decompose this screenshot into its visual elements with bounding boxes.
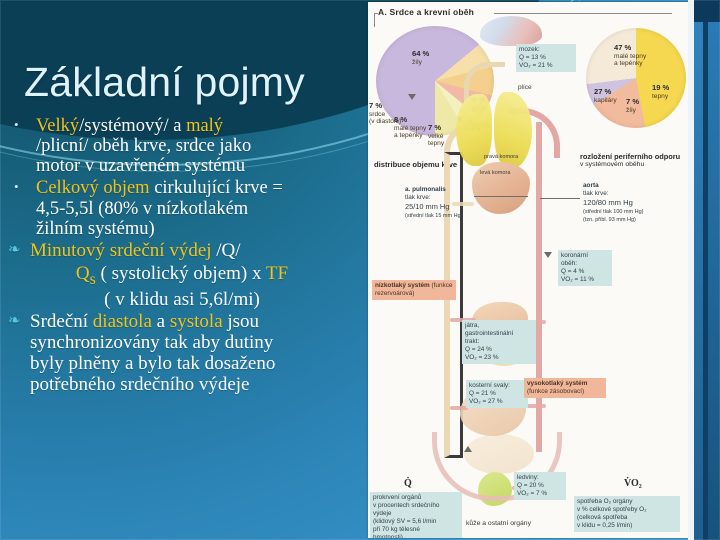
legend-line: výdeje [373, 510, 391, 517]
list-item: ❧ Minutový srdeční výdej /Q/ [6, 241, 368, 262]
list-item: ❧ Srdeční diastola a systola jsou synchr… [6, 312, 368, 395]
callout-organ: trakt: [465, 338, 479, 345]
callout-vo2: VO₂ = 7 % [517, 490, 547, 497]
figure-rule [494, 13, 672, 14]
callout-vo2: VO₂ = 27 % [469, 398, 503, 405]
pie-slice-label: 7 %srdce(v diastole) [369, 102, 401, 126]
bullet-line: potřebného srdečního výdeje [30, 375, 368, 396]
callout-value: 120/80 mm Hg [583, 198, 633, 207]
bullet-line: Srdeční diastola a systola jsou [30, 312, 368, 333]
pie-slice-label: 47 %malé tepnya tepénky [614, 44, 646, 68]
bullet-line: Velký/systémový/ a malý [36, 116, 368, 136]
list-item: Qs ( systolický objem) x TF [6, 264, 368, 288]
theme-stripe-blue-light [694, 0, 703, 540]
highlight-text: Qs [76, 263, 96, 284]
pie-slice-label: 7 %velkétepny [428, 124, 444, 148]
bullet-line: synchronizovány tak aby dutiny [30, 333, 368, 354]
list-item: • Celkový objem cirkulující krve = 4,5-5… [6, 178, 368, 238]
presentation-slide: Základní pojmy • Velký/systémový/ a malý… [0, 0, 720, 540]
pie-slice-label: 27 %kapiláry [594, 88, 617, 104]
legend-line: při 70 kg tělesné [373, 526, 420, 533]
figure-heading: A. Srdce a krevní oběh [378, 7, 474, 17]
label-right-ventricle: pravá komora [484, 154, 518, 160]
callout-note: (střední tlak 15 mm Hg) [405, 213, 462, 219]
leader-line [474, 196, 528, 197]
page-title: Základní pojmy [24, 62, 354, 103]
legend-line: (celková spotřeba [577, 514, 627, 521]
callout-coronary: koronární oběh: Q = 4 % VO₂ = 11 % [558, 250, 612, 286]
highlight-text: systola [170, 311, 223, 332]
bullet-line: Celkový objem cirkulující krve = [36, 178, 368, 198]
pie-slice-label: 7 %žíly [626, 98, 639, 114]
bullet-line: Minutový srdeční výdej /Q/ [30, 241, 368, 262]
theme-stripe-top-cap [694, 0, 720, 22]
system-title: vysokotlaký systém [527, 380, 587, 387]
legend-symbol-vo2: V̇O₂ [624, 478, 642, 489]
system-subtitle: (funkce zásobovací) [527, 388, 584, 395]
callout-vo2: VO₂ = 11 % [561, 276, 594, 283]
figure-image-srdce-a-krevni-obeh: A. Srdce a krevní oběh 64 %žíly 9 %plíce… [368, 2, 688, 538]
callout-q: Q = 21 % [469, 390, 496, 397]
caption-line: v systémovém oběhu [580, 161, 688, 168]
slide-text-column: Základní pojmy • Velký/systémový/ a malý… [0, 0, 368, 540]
vessel-branch [526, 404, 546, 408]
callout-kidneys: ledviny: Q = 20 % VO₂ = 7 % [514, 472, 566, 500]
bullet-line: motor v uzavřeném systému [36, 156, 368, 176]
pie-slice-label: 19 %tepny [652, 84, 669, 100]
callout-organ: gastrointestinální [465, 330, 513, 337]
legend-line: v klidu = 0,25 l/min) [577, 522, 632, 529]
label-lungs: plíce [518, 84, 532, 91]
label-skin-other-organs: kůže a ostatní orgány [466, 520, 531, 527]
bullet-line: žilním systému) [36, 219, 368, 239]
legend-line: prokrvení orgánů [373, 494, 421, 501]
pie-slice-label: 64 %žíly [412, 50, 429, 66]
callout-note: (tzn. přibl. 93 mm Hg) [583, 217, 636, 223]
label-left-ventricle: levá komora [480, 170, 510, 176]
ornament-bullet-icon: ❧ [8, 240, 21, 258]
callout-vo2: VO₂ = 21 % [519, 62, 553, 69]
callout-q: Q = 24 % [465, 346, 492, 353]
list-item: ( v klidu asi 5,6l/mi) [6, 290, 368, 311]
callout-note: (střední tlak 100 mm Hg) [583, 209, 644, 215]
callout-organ: koronární [561, 252, 588, 259]
system-title: nízkotlaký systém [375, 282, 430, 289]
legend-vo2-description: spotřeba O₂ orgány v % celkové spotřeby … [574, 496, 680, 532]
bullet-line: /plicní/ oběh krve, srdce jako [36, 136, 368, 156]
pie-chart-caption: rozložení periferního odporu v systémové… [580, 152, 688, 168]
callout-high-pressure-system: vysokotlaký systém (funkce zásobovací) [524, 378, 606, 398]
highlight-text: Minutový srdeční výdej [30, 240, 212, 261]
legend-line: hmotnosti) [373, 534, 403, 538]
callout-low-pressure-system: nízkotlaký systém (funkce rezervoárová) [372, 280, 456, 300]
callout-brain: mozek: Q = 13 % VO₂ = 21 % [516, 44, 576, 72]
aorta-vessel [536, 122, 554, 452]
callout-liver-gi: játra, gastrointestinální trakt: Q = 24 … [462, 320, 536, 364]
highlight-text: Celkový objem [36, 178, 150, 198]
callout-q: Q = 4 % [561, 268, 584, 275]
theme-stripe-blue [708, 0, 720, 540]
callout-line: tlak krve: [405, 194, 431, 201]
slide-bullet-list: • Velký/systémový/ a malý /plicní/ oběh … [6, 116, 368, 397]
highlight-text: TF [266, 263, 288, 284]
callout-aorta: aorta tlak krve: 120/80 mm Hg (střední t… [580, 180, 682, 226]
callout-vessel-name: aorta [583, 182, 599, 189]
callout-q: Q = 13 % [519, 54, 546, 61]
legend-line: v procentech srdečního [373, 502, 439, 509]
legend-q-description: prokrvení orgánů v procentech srdečního … [370, 492, 462, 538]
legend-line: v % celkové spotřeby O₂ [577, 506, 647, 513]
highlight-text: Velký [36, 116, 79, 136]
highlight-text: diastola [93, 311, 152, 332]
bullet-dot-icon: • [14, 117, 19, 133]
ornament-bullet-icon: ❧ [8, 311, 21, 329]
bullet-line: ( v klidu asi 5,6l/mi) [30, 290, 368, 311]
brain-illustration [480, 16, 542, 46]
callout-vo2: VO₂ = 23 % [465, 354, 499, 361]
leader-line [540, 198, 580, 199]
callout-pulmonary-artery: a. pulmonalis tlak krve: 25/10 mm Hg (st… [402, 184, 478, 222]
caption-line: rozložení periferního odporu [580, 152, 688, 161]
callout-q: Q = 20 % [517, 482, 544, 489]
callout-organ: ledviny: [517, 474, 539, 481]
flow-arrow-icon [408, 94, 416, 100]
highlight-text: malý [186, 116, 223, 136]
figure-rule [374, 13, 375, 27]
callout-line: tlak krve: [583, 190, 609, 197]
callout-skeletal-muscle: kosterní svaly: Q = 21 % VO₂ = 27 % [466, 380, 528, 408]
callout-organ: oběh: [561, 260, 577, 267]
bullet-line: Qs ( systolický objem) x TF [30, 264, 368, 288]
bullet-line: 4,5-5,5l (80% v nízkotlakém [36, 199, 368, 219]
callout-organ: játra, [465, 322, 479, 329]
flow-arrow-icon [464, 446, 472, 452]
flow-arrow-icon [544, 252, 552, 258]
callout-organ: mozek: [519, 46, 540, 53]
callout-organ: kosterní svaly: [469, 382, 510, 389]
legend-symbol-q: Q̇ [404, 478, 412, 489]
legend-line: spotřeba O₂ orgány [577, 498, 632, 505]
callout-value: 25/10 mm Hg [405, 202, 449, 211]
legend-line: (klidový SV = 5,6 l/min [373, 518, 436, 525]
list-item: • Velký/systémový/ a malý /plicní/ oběh … [6, 116, 368, 176]
bullet-dot-icon: • [14, 179, 19, 195]
bullet-line: byly plněny a bylo tak dosaženo [30, 354, 368, 375]
callout-vessel-name: a. pulmonalis [405, 186, 446, 193]
